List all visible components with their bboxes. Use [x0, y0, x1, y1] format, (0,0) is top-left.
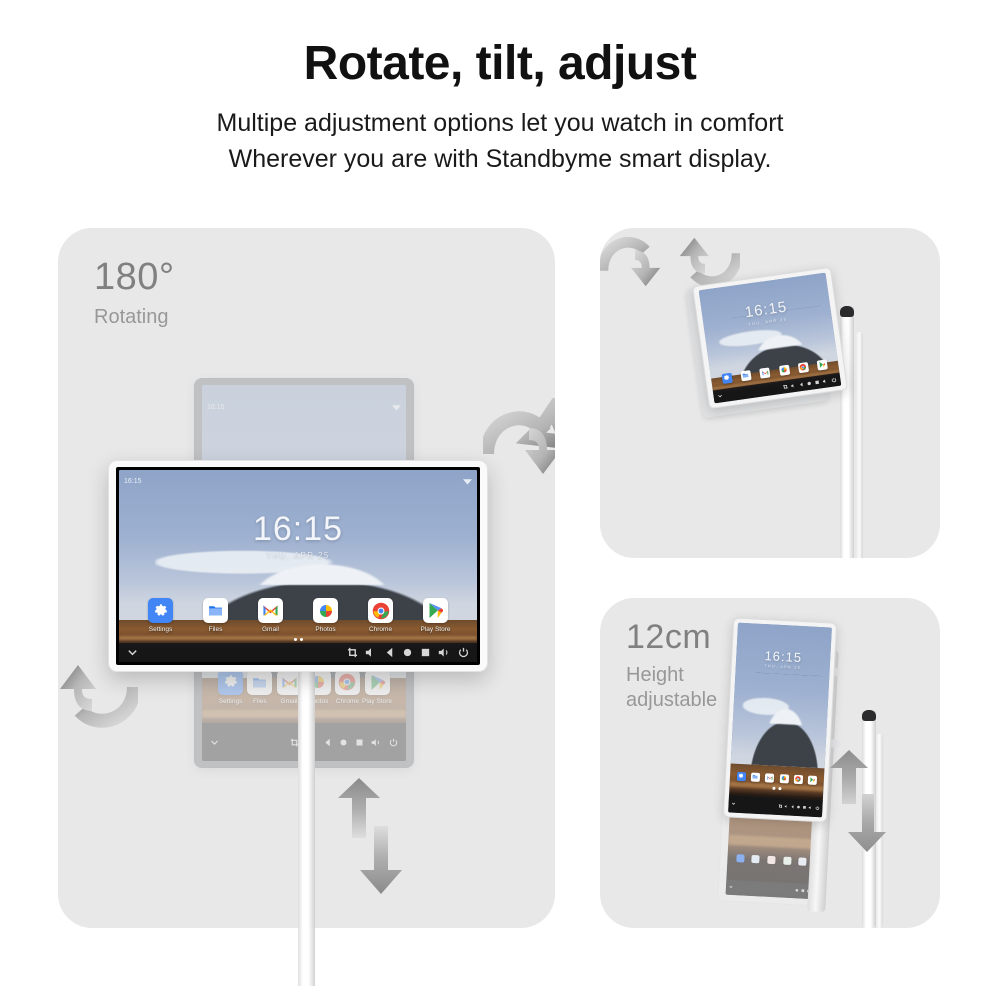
- volume-up-icon[interactable]: [438, 647, 451, 658]
- list-item[interactable]: [779, 774, 789, 784]
- feature-panels: 180° Rotating 16:15: [0, 228, 1000, 934]
- list-item[interactable]: Gmail: [256, 598, 286, 633]
- wifi-icon: [463, 478, 472, 485]
- gmail-icon[interactable]: [759, 367, 770, 378]
- list-item: [798, 858, 807, 866]
- folder-icon: [752, 855, 760, 863]
- wallpaper-snow: [742, 680, 821, 726]
- stand-pole: [840, 306, 854, 558]
- chevron-down-icon[interactable]: [210, 738, 219, 747]
- chevron-down-icon: [729, 885, 733, 889]
- photos-icon[interactable]: [779, 774, 788, 783]
- panel-tilting: 16:15 THU, APR 25: [600, 228, 940, 558]
- volume-down-icon[interactable]: [784, 805, 788, 809]
- list-item[interactable]: [816, 359, 828, 370]
- volume-up-icon[interactable]: [808, 806, 813, 810]
- home-icon[interactable]: [402, 647, 413, 658]
- home-icon[interactable]: [796, 805, 800, 809]
- recents-icon[interactable]: [802, 806, 806, 810]
- list-item[interactable]: [765, 773, 775, 783]
- gear-icon: [736, 855, 744, 863]
- list-item[interactable]: Play Store: [421, 598, 451, 633]
- power-icon[interactable]: [815, 806, 819, 810]
- status-bar-time: 16:15: [207, 404, 225, 411]
- panel-height: 12cm Height adjustable: [600, 598, 940, 928]
- list-item[interactable]: [721, 372, 733, 383]
- list-item[interactable]: [807, 775, 817, 785]
- list-item[interactable]: Files: [201, 598, 231, 633]
- play-store-icon[interactable]: [817, 359, 828, 370]
- height-value: 12cm: [626, 620, 717, 654]
- photos-icon: [783, 857, 791, 865]
- tilt-rotate-top-icon: [600, 228, 668, 296]
- list-item[interactable]: [778, 364, 790, 375]
- list-item: [736, 854, 745, 862]
- list-item[interactable]: Photos: [311, 598, 341, 633]
- folder-icon[interactable]: [247, 670, 272, 695]
- rotate-counter-clockwise-icon: [58, 653, 138, 743]
- height-caption-line-2: adjustable: [626, 688, 717, 713]
- power-icon[interactable]: [458, 647, 469, 658]
- list-item[interactable]: [759, 367, 771, 378]
- photos-icon[interactable]: [313, 598, 338, 623]
- navbar-spacer: [738, 804, 777, 806]
- chevron-down-icon[interactable]: [731, 802, 735, 806]
- list-item[interactable]: [750, 772, 760, 782]
- tablet-bezel: 16:15 THU, APR 25: [723, 617, 837, 822]
- tablet-screen[interactable]: 16:15 THU, APR 25: [699, 273, 842, 404]
- page-title: Rotate, tilt, adjust: [0, 36, 1000, 91]
- back-icon[interactable]: [323, 738, 332, 747]
- list-item[interactable]: [736, 771, 746, 781]
- list-item[interactable]: [740, 370, 752, 381]
- height-caption: Height adjustable: [626, 663, 717, 713]
- play-store-icon[interactable]: [365, 670, 390, 695]
- folder-icon[interactable]: [740, 370, 751, 381]
- lock-clock: 16:15 THU, APR 25: [119, 512, 477, 560]
- list-item[interactable]: [793, 774, 803, 784]
- gear-icon[interactable]: [148, 598, 173, 623]
- back-icon[interactable]: [790, 805, 794, 809]
- navigation-bar: [728, 795, 823, 817]
- page-indicator: [119, 638, 477, 641]
- stand-pole-secondary: [856, 332, 863, 558]
- tablet-screen[interactable]: 16:15 THU, APR 25: [728, 623, 832, 818]
- chrome-icon[interactable]: [335, 670, 360, 695]
- screenshot-icon[interactable]: [347, 647, 358, 658]
- recents-icon[interactable]: [355, 738, 364, 747]
- list-item-label: Settings: [146, 626, 176, 633]
- list-item-label: Chrome: [366, 626, 396, 633]
- navigation-bar: [119, 643, 477, 662]
- height-caption-line-1: Height: [626, 663, 717, 688]
- volume-down-icon[interactable]: [791, 383, 797, 389]
- status-bar: 16:15: [202, 385, 406, 430]
- navbar-spacer: [726, 388, 780, 396]
- tablet-landscape: 16:15 16:15 THU, APR 25: [108, 460, 488, 672]
- power-icon[interactable]: [831, 377, 837, 383]
- list-item: [751, 855, 760, 863]
- folder-icon[interactable]: [751, 772, 760, 781]
- recents-icon[interactable]: [814, 380, 820, 386]
- wifi-icon: [392, 404, 401, 411]
- power-icon[interactable]: [389, 738, 398, 747]
- clock-date: THU, APR 25: [119, 551, 477, 560]
- app-dock: Settings Files: [119, 598, 477, 633]
- chrome-icon: [798, 858, 806, 866]
- status-bar: 16:15: [119, 470, 477, 493]
- tablet-bezel: 16:15 16:15 THU, APR 25: [108, 460, 488, 672]
- home-icon[interactable]: [339, 738, 348, 747]
- home-icon: [795, 889, 799, 893]
- list-item-label: Chrome: [333, 698, 362, 705]
- list-item: [782, 857, 791, 865]
- chrome-icon[interactable]: [798, 362, 809, 373]
- back-icon[interactable]: [798, 382, 804, 388]
- height-up-down-arrows-icon: [330, 778, 410, 898]
- play-store-icon[interactable]: [808, 775, 817, 784]
- stand-pole-cap: [840, 306, 854, 317]
- panel-rotating: 180° Rotating 16:15: [58, 228, 555, 928]
- rotating-caption: Rotating: [94, 305, 175, 330]
- tablet-tilted: 16:15 THU, APR 25: [692, 267, 848, 409]
- navbar-spacer: [735, 887, 793, 890]
- list-item-label: Files: [201, 626, 231, 633]
- panel-rotating-label: 180° Rotating: [94, 258, 175, 330]
- gear-icon[interactable]: [721, 373, 732, 384]
- status-bar-time: 16:15: [124, 478, 142, 485]
- subtitle-line-1: Multipe adjustment options let you watch…: [0, 105, 1000, 141]
- list-item-label: Gmail: [256, 626, 286, 633]
- recents-icon: [801, 889, 805, 893]
- tablet-bezel: 16:15 THU, APR 25: [692, 267, 848, 409]
- volume-up-icon[interactable]: [822, 379, 829, 385]
- screenshot-icon[interactable]: [778, 804, 782, 808]
- list-item[interactable]: Chrome: [366, 598, 396, 633]
- volume-up-icon[interactable]: [371, 738, 382, 747]
- subtitle-line-2: Wherever you are with Standbyme smart di…: [0, 141, 1000, 177]
- list-item: [767, 856, 776, 864]
- gear-icon[interactable]: [736, 772, 745, 781]
- list-item-label: Files: [245, 698, 274, 705]
- clock-time: 16:15: [119, 512, 477, 546]
- header: Rotate, tilt, adjust Multipe adjustment …: [0, 0, 1000, 178]
- tablet-screen-frame: 16:15 16:15 THU, APR 25: [116, 467, 480, 665]
- gmail-icon[interactable]: [765, 773, 774, 782]
- height-up-down-arrows-icon: [824, 750, 894, 855]
- chevron-down-icon[interactable]: [717, 393, 723, 399]
- rotate-clockwise-icon: [483, 398, 555, 488]
- tablet-screen[interactable]: 16:15 16:15 THU, APR 25: [119, 470, 477, 662]
- volume-down-icon[interactable]: [365, 647, 377, 658]
- screenshot-icon[interactable]: [783, 384, 789, 390]
- list-item[interactable]: Settings: [146, 598, 176, 633]
- chrome-icon[interactable]: [368, 598, 393, 623]
- play-store-icon[interactable]: [423, 598, 448, 623]
- list-item[interactable]: Settings: [216, 670, 245, 705]
- stand-pole-cap: [862, 710, 876, 721]
- list-item-label: Settings: [216, 698, 245, 705]
- list-item-label: Play Store: [421, 626, 451, 633]
- back-icon[interactable]: [384, 647, 395, 658]
- gmail-icon[interactable]: [258, 598, 283, 623]
- tablet-portrait: 16:15 THU, APR 25: [723, 617, 837, 822]
- chrome-icon[interactable]: [794, 775, 803, 784]
- stand-pole-extension: [298, 928, 315, 986]
- panel-height-label: 12cm Height adjustable: [626, 620, 717, 713]
- folder-icon[interactable]: [203, 598, 228, 623]
- navigation-bar: [726, 879, 815, 899]
- list-item[interactable]: Files: [245, 670, 274, 705]
- list-item[interactable]: [797, 362, 809, 373]
- home-icon[interactable]: [806, 381, 812, 387]
- photos-icon[interactable]: [779, 364, 790, 375]
- recents-icon[interactable]: [420, 647, 431, 658]
- gmail-icon: [767, 856, 775, 864]
- gear-icon[interactable]: [218, 670, 243, 695]
- page-subtitle: Multipe adjustment options let you watch…: [0, 105, 1000, 178]
- list-item-label: Play Store: [362, 698, 392, 705]
- list-item[interactable]: Play Store: [362, 670, 392, 705]
- rotating-value: 180°: [94, 258, 175, 296]
- list-item[interactable]: Chrome: [333, 670, 362, 705]
- list-item-label: Photos: [311, 626, 341, 633]
